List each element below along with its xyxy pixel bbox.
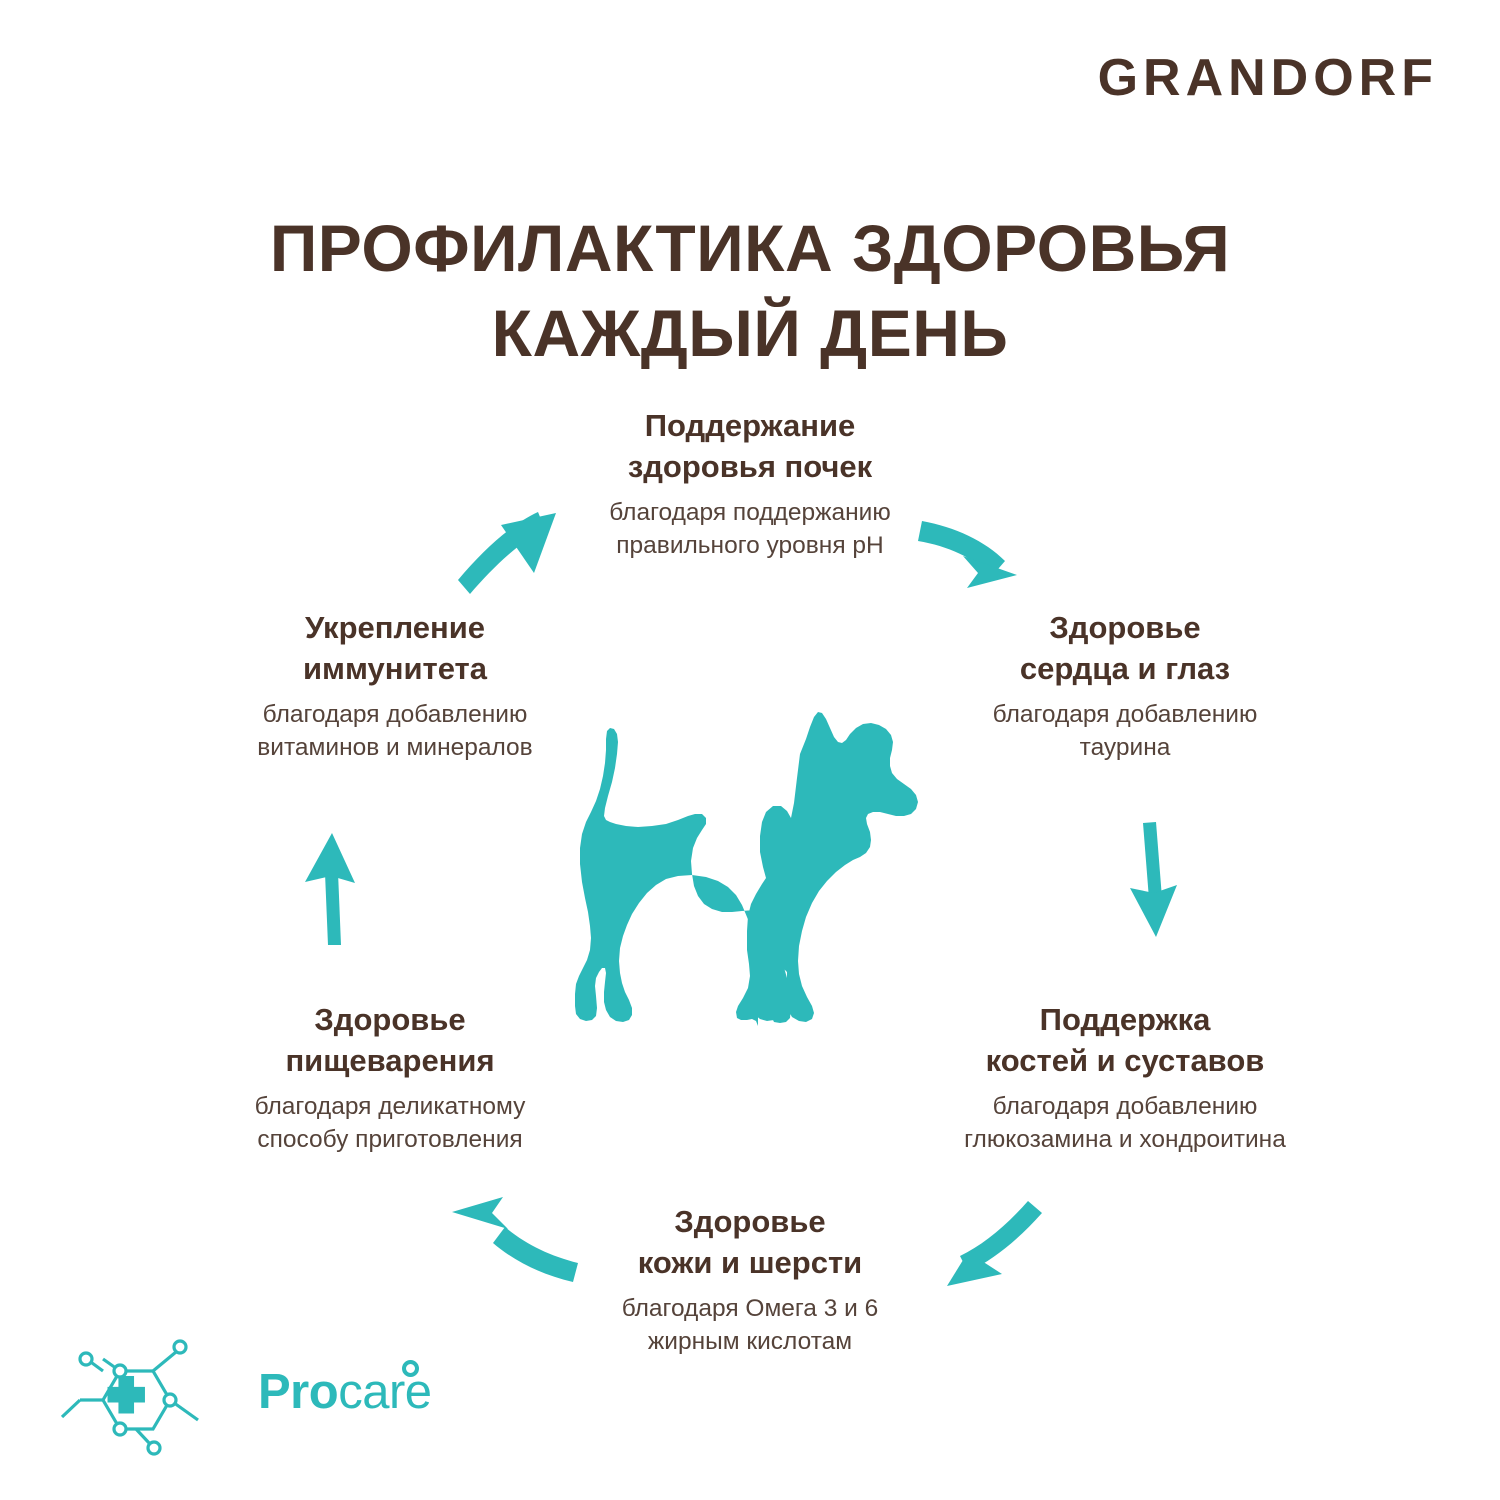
node-heart-and-eyes-subtitle: благодаря добавлению таурина xyxy=(935,699,1315,765)
node-digestion-title-line-1: Здоровье xyxy=(180,1000,600,1041)
brand-wordmark: GRANDORF xyxy=(1098,52,1438,104)
node-skin-sub-line-2: жирным кислотам xyxy=(520,1326,980,1359)
arrow-heart-to-bones-icon xyxy=(1130,822,1177,937)
node-digestion-title-line-2: пищеварения xyxy=(180,1041,600,1082)
procare-degree-icon xyxy=(402,1360,419,1377)
node-bones-and-joints-subtitle: благодаря добавлению глюкозамина и хондр… xyxy=(900,1091,1350,1157)
node-kidneys-subtitle: благодаря поддержанию правильного уровня… xyxy=(520,497,980,563)
node-digestion: Здоровье пищеварения благодаря деликатно… xyxy=(180,1000,600,1156)
node-immunity-sub-line-2: витаминов и минералов xyxy=(185,732,605,765)
node-immunity-sub-line-1: благодаря добавлению xyxy=(185,699,605,732)
node-bones-title-line-2: костей и суставов xyxy=(900,1041,1350,1082)
node-bones-title-line-1: Поддержка xyxy=(900,1000,1350,1041)
arrow-digestion-to-immunity-icon xyxy=(305,833,355,945)
node-heart-sub-line-2: таурина xyxy=(935,732,1315,765)
node-kidneys-title: Поддержание здоровья почек xyxy=(520,406,980,488)
node-kidneys-sub-line-1: благодаря поддержанию xyxy=(520,497,980,530)
procare-word-bold: Pro xyxy=(258,1365,338,1419)
molecule-cross-icon xyxy=(58,1338,248,1458)
node-skin-and-coat-subtitle: благодаря Омега 3 и 6 жирным кислотам xyxy=(520,1293,980,1359)
node-heart-sub-line-1: благодаря добавлению xyxy=(935,699,1315,732)
node-digestion-subtitle: благодаря деликатному способу приготовле… xyxy=(180,1091,600,1157)
node-immunity-title-line-2: иммунитета xyxy=(185,649,605,690)
node-immunity-title-line-1: Укрепление xyxy=(185,608,605,649)
node-digestion-title: Здоровье пищеварения xyxy=(180,1000,600,1082)
node-immunity-subtitle: благодаря добавлению витаминов и минерал… xyxy=(185,699,605,765)
page-title: ПРОФИЛАКТИКА ЗДОРОВЬЯ КАЖДЫЙ ДЕНЬ xyxy=(0,206,1500,375)
node-kidneys-title-line-2: здоровья почек xyxy=(520,447,980,488)
node-immunity: Укрепление иммунитета благодаря добавлен… xyxy=(185,608,605,764)
node-immunity-title: Укрепление иммунитета xyxy=(185,608,605,690)
page-title-line-1: ПРОФИЛАКТИКА ЗДОРОВЬЯ xyxy=(0,206,1500,290)
node-digestion-sub-line-2: способу приготовления xyxy=(180,1124,600,1157)
node-heart-and-eyes: Здоровье сердца и глаз благодаря добавле… xyxy=(935,608,1315,764)
node-skin-and-coat: Здоровье кожи и шерсти благодаря Омега 3… xyxy=(520,1202,980,1358)
page-title-line-2: КАЖДЫЙ ДЕНЬ xyxy=(0,291,1500,375)
procare-logo: Procare xyxy=(58,1338,428,1468)
node-heart-title-line-2: сердца и глаз xyxy=(935,649,1315,690)
node-digestion-sub-line-1: благодаря деликатному xyxy=(180,1091,600,1124)
node-kidneys-sub-line-2: правильного уровня pH xyxy=(520,530,980,563)
node-skin-and-coat-title: Здоровье кожи и шерсти xyxy=(520,1202,980,1284)
node-skin-title-line-1: Здоровье xyxy=(520,1202,980,1243)
node-heart-and-eyes-title: Здоровье сердца и глаз xyxy=(935,608,1315,690)
dog-silhouette-icon xyxy=(575,712,918,1026)
node-bones-sub-line-2: глюкозамина и хондроитина xyxy=(900,1124,1350,1157)
node-skin-sub-line-1: благодаря Омега 3 и 6 xyxy=(520,1293,980,1326)
node-kidneys: Поддержание здоровья почек благодаря под… xyxy=(520,406,980,562)
node-bones-and-joints: Поддержка костей и суставов благодаря до… xyxy=(900,1000,1350,1156)
infographic-canvas: GRANDORF ПРОФИЛАКТИКА ЗДОРОВЬЯ КАЖДЫЙ ДЕ… xyxy=(0,0,1500,1500)
node-heart-title-line-1: Здоровье xyxy=(935,608,1315,649)
node-skin-title-line-2: кожи и шерсти xyxy=(520,1243,980,1284)
node-kidneys-title-line-1: Поддержание xyxy=(520,406,980,447)
node-bones-and-joints-title: Поддержка костей и суставов xyxy=(900,1000,1350,1082)
node-bones-sub-line-1: благодаря добавлению xyxy=(900,1091,1350,1124)
